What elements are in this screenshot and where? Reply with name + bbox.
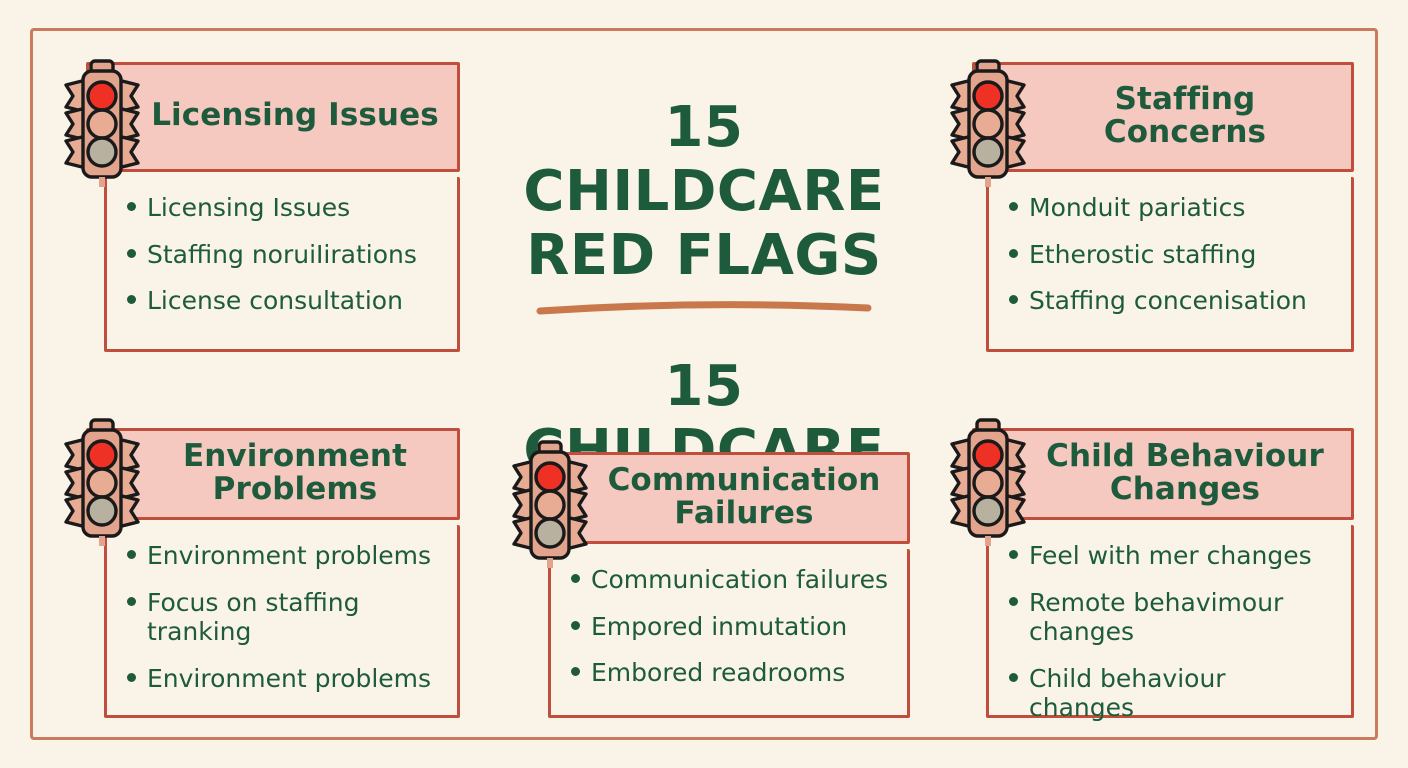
bullet-dot-icon (1009, 673, 1018, 682)
card-list-communication-failures: Communication failures Empored inmutatio… (548, 549, 910, 718)
list-item: Empored inmutation (571, 612, 893, 642)
bullet-dot-icon (127, 202, 136, 211)
card-list-licensing-issues: Licensing Issues Staffing noruiIirations… (104, 177, 460, 352)
card-title: Licensing Issues (151, 99, 439, 132)
bullet-dot-icon (127, 249, 136, 258)
card-title: Communication Failures (608, 464, 881, 531)
bullet-dot-icon (1009, 597, 1018, 606)
list-item: Licensing Issues (127, 193, 443, 223)
list-item-label: Empored inmutation (591, 612, 847, 642)
list-item-label: Environment problems (147, 664, 431, 694)
list-item-label: Environment problems (147, 541, 431, 571)
bullet-dot-icon (1009, 550, 1018, 559)
list-item: Embored readrooms (571, 658, 893, 688)
list-item-label: Child behaviour changes (1029, 664, 1337, 723)
list-item-label: Staffing noruiIirations (147, 240, 417, 270)
card-list-environment-problems: Environment problems Focus on staffing t… (104, 525, 460, 718)
bullet-dot-icon (1009, 295, 1018, 304)
card-title: Child Behaviour Changes (1046, 440, 1324, 507)
list-item-label: Focus on staffing tranking (147, 588, 443, 647)
card-child-behaviour-changes: Child Behaviour Changes Feel with mer ch… (972, 428, 1354, 718)
list-item: Staffing noruiIirations (127, 240, 443, 270)
bullet-dot-icon (127, 673, 136, 682)
list-item-label: Communication failures (591, 565, 888, 595)
list-item-label: Staffing concenisation (1029, 286, 1307, 316)
list-item: Remote behavimour changes (1009, 588, 1337, 647)
list-item-label: Monduit pariatics (1029, 193, 1245, 223)
page-title-primary: 15 CHILDCARE RED FLAGS (484, 96, 924, 287)
title-underline-stroke (536, 301, 872, 315)
card-environment-problems: Environment Problems Environment problem… (86, 428, 460, 718)
list-item: Child behaviour changes (1009, 664, 1337, 723)
card-communication-failures: Communication Failures Communication fai… (534, 452, 910, 718)
bullet-dot-icon (571, 621, 580, 630)
bullet-dot-icon (1009, 249, 1018, 258)
bullet-dot-icon (571, 574, 580, 583)
list-item: Environment problems (127, 541, 443, 571)
bullet-dot-icon (127, 597, 136, 606)
traffic-light-icon (50, 57, 154, 189)
traffic-light-icon (498, 438, 602, 570)
list-item-label: License consultation (147, 286, 403, 316)
list-item: License consultation (127, 286, 443, 316)
list-item: Focus on staffing tranking (127, 588, 443, 647)
list-item-label: Remote behavimour changes (1029, 588, 1337, 647)
list-item-label: Etherostic staffing (1029, 240, 1256, 270)
bullet-dot-icon (1009, 202, 1018, 211)
list-item: Etherostic staffing (1009, 240, 1337, 270)
list-item: Staffing concenisation (1009, 286, 1337, 316)
list-item-label: Embored readrooms (591, 658, 845, 688)
bullet-dot-icon (571, 667, 580, 676)
infographic-canvas: Licensing Issues Licensing Issues Staffi… (0, 0, 1408, 768)
list-item: Monduit pariatics (1009, 193, 1337, 223)
traffic-light-icon (50, 416, 154, 548)
list-item: Environment problems (127, 664, 443, 694)
list-item-label: Feel with mer changes (1029, 541, 1312, 571)
card-title: Staffing Concerns (1029, 83, 1341, 150)
card-list-staffing-concerns: Monduit pariatics Etherostic staffing St… (986, 177, 1354, 352)
card-title: Environment Problems (183, 440, 407, 507)
bullet-dot-icon (127, 550, 136, 559)
card-list-child-behaviour-changes: Feel with mer changes Remote behavimour … (986, 525, 1354, 718)
traffic-light-icon (936, 57, 1040, 189)
list-item: Feel with mer changes (1009, 541, 1337, 571)
card-licensing-issues: Licensing Issues Licensing Issues Staffi… (86, 62, 460, 352)
list-item-label: Licensing Issues (147, 193, 350, 223)
bullet-dot-icon (127, 295, 136, 304)
traffic-light-icon (936, 416, 1040, 548)
list-item: Communication failures (571, 565, 893, 595)
card-staffing-concerns: Staffing Concerns Monduit pariatics Ethe… (972, 62, 1354, 352)
title-spacer (484, 315, 924, 355)
